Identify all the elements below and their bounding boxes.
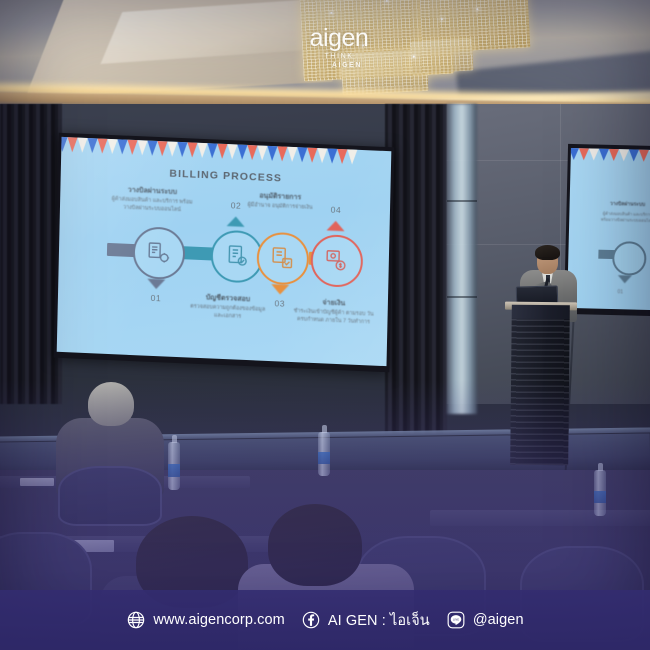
document-gear-icon — [146, 240, 173, 267]
audience-chair — [58, 466, 162, 526]
billing-process-timeline: วางบิลผ่านระบบ ผู้ค้าส่งมอบสินค้า และบริ… — [57, 137, 392, 366]
timeline-arrow-down — [147, 279, 165, 290]
audience-table — [430, 510, 650, 526]
svg-text:LINE: LINE — [453, 618, 459, 622]
secondary-step-heading: วางบิลผ่านระบบ — [602, 201, 650, 209]
secondary-timeline-arrow — [618, 275, 632, 283]
watermark-brand: aigen — [279, 26, 399, 51]
step-01-number: 01 — [141, 292, 171, 303]
watermark-tagline: THINK AIGEN — [279, 53, 399, 71]
photo-canvas: aigen THINK AIGEN — [0, 0, 650, 650]
timeline-arrow-down — [271, 284, 289, 295]
bottle-label — [318, 452, 330, 463]
timeline-node-03 — [256, 231, 309, 285]
secondary-step-body: ผู้ค้าส่งมอบสินค้า และบริการ พร้อมวางบิล… — [599, 211, 650, 224]
bottle-label — [594, 491, 606, 503]
globe-icon — [126, 610, 146, 630]
bunting-flag — [639, 150, 649, 162]
water-bottle — [594, 470, 606, 516]
bunting-flag — [609, 149, 619, 161]
secondary-step-number: 01 — [617, 289, 623, 295]
step-03-number: 03 — [265, 298, 295, 309]
contact-footer-bar: www.aigencorp.com AI GEN : ไอเจ็น LINE @… — [0, 590, 650, 650]
slide-surface: BILLING PROCESS — [57, 137, 392, 366]
step-04-number: 04 — [321, 204, 351, 215]
notepad — [20, 478, 54, 486]
chandelier-block — [410, 39, 474, 74]
podium — [510, 305, 570, 466]
step-02-label: บัญชีตรวจสอบ ตรวจสอบความถูกต้องของข้อมูล… — [185, 292, 270, 322]
timeline-node-04 — [310, 234, 363, 288]
bottle-label — [168, 464, 180, 476]
bunting-flag — [629, 149, 639, 161]
audience-member-head — [268, 504, 362, 586]
step-03-body: ผู้มีอำนาจ อนุมัติการจ่ายเงิน — [238, 202, 322, 213]
chandelier-sparkle — [413, 56, 415, 58]
step-04-body: ชำระเงินเข้าบัญชีผู้ค้า ตามรอบ วันครบกำห… — [291, 308, 375, 327]
step-01-label: วางบิลผ่านระบบ ผู้ค้าส่งมอบสินค้า และบริ… — [110, 185, 195, 215]
water-bottle — [318, 432, 330, 476]
bunting-flag — [579, 148, 589, 160]
watermark-tagline-line1: THINK — [325, 53, 354, 60]
chandelier-sparkle — [386, 0, 388, 2]
podium-slat-panel — [510, 319, 570, 466]
step-03-label: อนุมัติรายการ ผู้มีอำนาจ อนุมัติการจ่ายเ… — [238, 191, 322, 213]
step-01-body: ผู้ค้าส่งมอบสินค้า และบริการ พร้อมวางบิล… — [110, 196, 194, 215]
secondary-timeline-node — [612, 241, 647, 276]
watermark-tagline-line2: AIGEN — [295, 62, 399, 71]
footer-line[interactable]: LINE @aigen — [446, 610, 524, 630]
chandelier-sparkle — [476, 8, 478, 10]
bunting-flag — [619, 149, 629, 161]
step-02-body: ตรวจสอบความถูกต้องของข้อมูล และเอกสาร — [185, 303, 269, 322]
pillar-seam — [447, 200, 477, 202]
footer-website-label: www.aigencorp.com — [153, 612, 284, 628]
timeline-arrow-up — [327, 220, 345, 231]
bunting-flag — [599, 149, 609, 161]
speaker-glasses — [538, 257, 557, 262]
main-projection-screen: BILLING PROCESS — [54, 133, 395, 373]
stage-curtain-left — [0, 104, 62, 404]
footer-facebook-label: AI GEN : ไอเจ็น — [328, 609, 430, 632]
line-chat-icon: LINE — [446, 610, 466, 630]
payment-money-icon — [324, 247, 351, 274]
footer-line-label: @aigen — [473, 612, 524, 628]
bunting-flag — [589, 148, 599, 160]
timeline-arrow-up — [227, 216, 245, 227]
water-bottle — [168, 442, 180, 490]
approval-stamp-icon — [270, 245, 297, 272]
timeline-node-01 — [132, 226, 185, 280]
timeline-node-02 — [210, 229, 263, 283]
secondary-bunting-decoration — [569, 148, 650, 163]
footer-facebook[interactable]: AI GEN : ไอเจ็น — [301, 609, 430, 632]
lit-pillar — [447, 104, 477, 414]
facebook-icon — [301, 610, 321, 630]
audience-member-head — [88, 382, 134, 426]
stage-curtain-center — [385, 104, 447, 434]
bunting-flag — [569, 148, 579, 160]
document-check-icon — [224, 243, 251, 270]
aigen-watermark-logo: aigen THINK AIGEN — [279, 26, 399, 74]
footer-website[interactable]: www.aigencorp.com — [126, 610, 284, 630]
step-04-label: จ่ายเงิน ชำระเงินเข้าบัญชีผู้ค้า ตามรอบ … — [291, 297, 376, 327]
chandelier-sparkle — [441, 18, 443, 20]
pillar-seam — [447, 296, 477, 298]
chandelier-sparkle — [330, 12, 332, 14]
